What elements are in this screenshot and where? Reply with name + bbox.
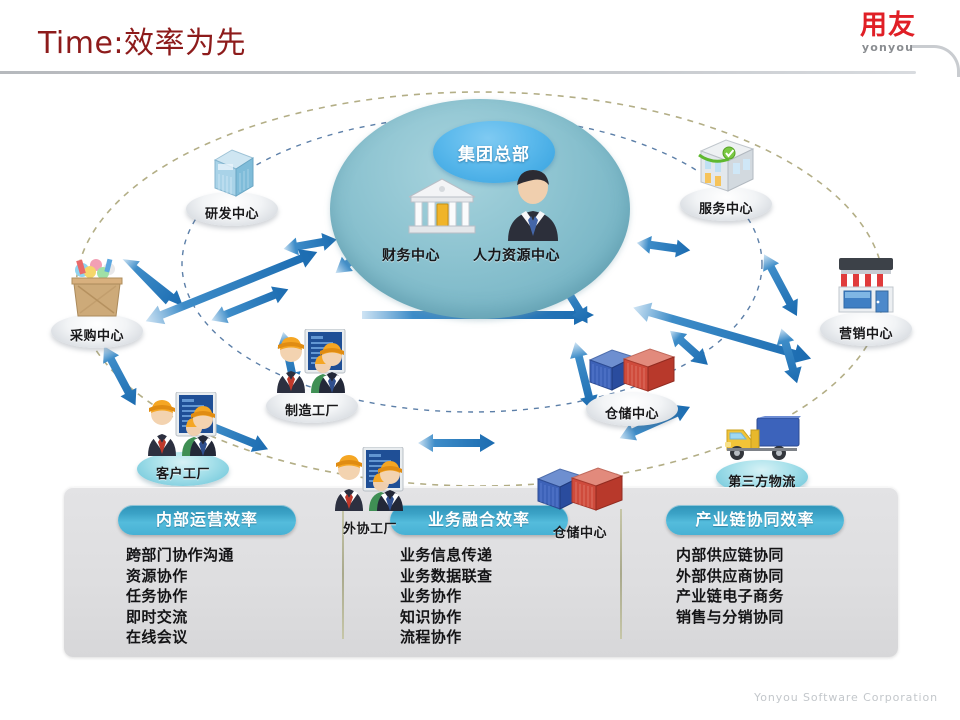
list-item: 流程协作 — [400, 627, 620, 648]
list-item: 跨部门协作沟通 — [126, 545, 342, 566]
efficiency-panel: 内部运营效率 跨部门协作沟通 资源协作 任务协作 即时交流 在线会议 业务融合效… — [64, 487, 898, 657]
column-item-list: 跨部门协作沟通 资源协作 任务协作 即时交流 在线会议 — [64, 545, 342, 648]
node-label: 第三方物流 — [728, 471, 796, 490]
hub-title: 集团总部 — [458, 140, 530, 165]
efficiency-column-internal: 内部运营效率 跨部门协作沟通 资源协作 任务协作 即时交流 在线会议 — [64, 487, 342, 657]
column-item-list: 内部供应链协同 外部供应商协同 产业链电子商务 销售与分销协同 — [620, 545, 898, 627]
list-item: 业务数据联查 — [400, 566, 620, 587]
hub-ellipse: 集团总部 财务中心 人 — [330, 99, 630, 319]
list-item: 任务协作 — [126, 586, 342, 607]
hub-title-badge: 集团总部 — [433, 121, 555, 183]
column-title-badge[interactable]: 产业链协同效率 — [666, 505, 844, 535]
column-title-badge[interactable]: 内部运营效率 — [118, 505, 296, 535]
list-item: 业务信息传递 — [400, 545, 620, 566]
node-label: 仓储中心 — [553, 522, 607, 541]
yonyou-logo: 用友 yonyou — [840, 12, 936, 54]
node-label: 仓储中心 — [605, 403, 659, 422]
list-item: 销售与分销协同 — [676, 607, 898, 628]
logo-latin-text: yonyou — [840, 41, 936, 54]
list-item: 内部供应链协同 — [676, 545, 898, 566]
hub-member-label-finance: 财务中心 — [382, 245, 440, 265]
column-title-badge[interactable]: 业务融合效率 — [390, 505, 568, 535]
efficiency-column-chain: 产业链协同效率 内部供应链协同 外部供应商协同 产业链电子商务 销售与分销协同 — [620, 487, 898, 657]
efficiency-column-business: 业务融合效率 业务信息传递 业务数据联查 业务协作 知识协作 流程协作 — [342, 487, 620, 657]
list-item: 产业链电子商务 — [676, 586, 898, 607]
diagram-canvas: 集团总部 财务中心 人 — [0, 74, 960, 486]
node-label: 制造工厂 — [285, 400, 339, 419]
list-item: 知识协作 — [400, 607, 620, 628]
list-item: 业务协作 — [400, 586, 620, 607]
list-item: 资源协作 — [126, 566, 342, 587]
page-title: Time:效率为先 — [38, 18, 246, 62]
node-label: 客户工厂 — [156, 463, 210, 482]
node-label: 研发中心 — [205, 203, 259, 222]
footer-copyright: Yonyou Software Corporation — [754, 691, 938, 704]
logo-chinese-text: 用友 — [840, 12, 936, 39]
slide-header: Time:效率为先 用友 yonyou — [0, 0, 960, 74]
efficiency-columns: 内部运营效率 跨部门协作沟通 资源协作 任务协作 即时交流 在线会议 业务融合效… — [64, 487, 898, 657]
node-label: 采购中心 — [70, 325, 124, 344]
list-item: 外部供应商协同 — [676, 566, 898, 587]
column-item-list: 业务信息传递 业务数据联查 业务协作 知识协作 流程协作 — [342, 545, 620, 648]
node-label: 服务中心 — [699, 198, 753, 217]
node-label: 外协工厂 — [343, 518, 397, 537]
list-item: 在线会议 — [126, 627, 342, 648]
node-label: 营销中心 — [839, 323, 893, 342]
list-item: 即时交流 — [126, 607, 342, 628]
hub-member-label-hr: 人力资源中心 — [473, 245, 560, 265]
slide: Time:效率为先 用友 yonyou — [0, 0, 960, 720]
bank-building-icon — [405, 177, 479, 239]
